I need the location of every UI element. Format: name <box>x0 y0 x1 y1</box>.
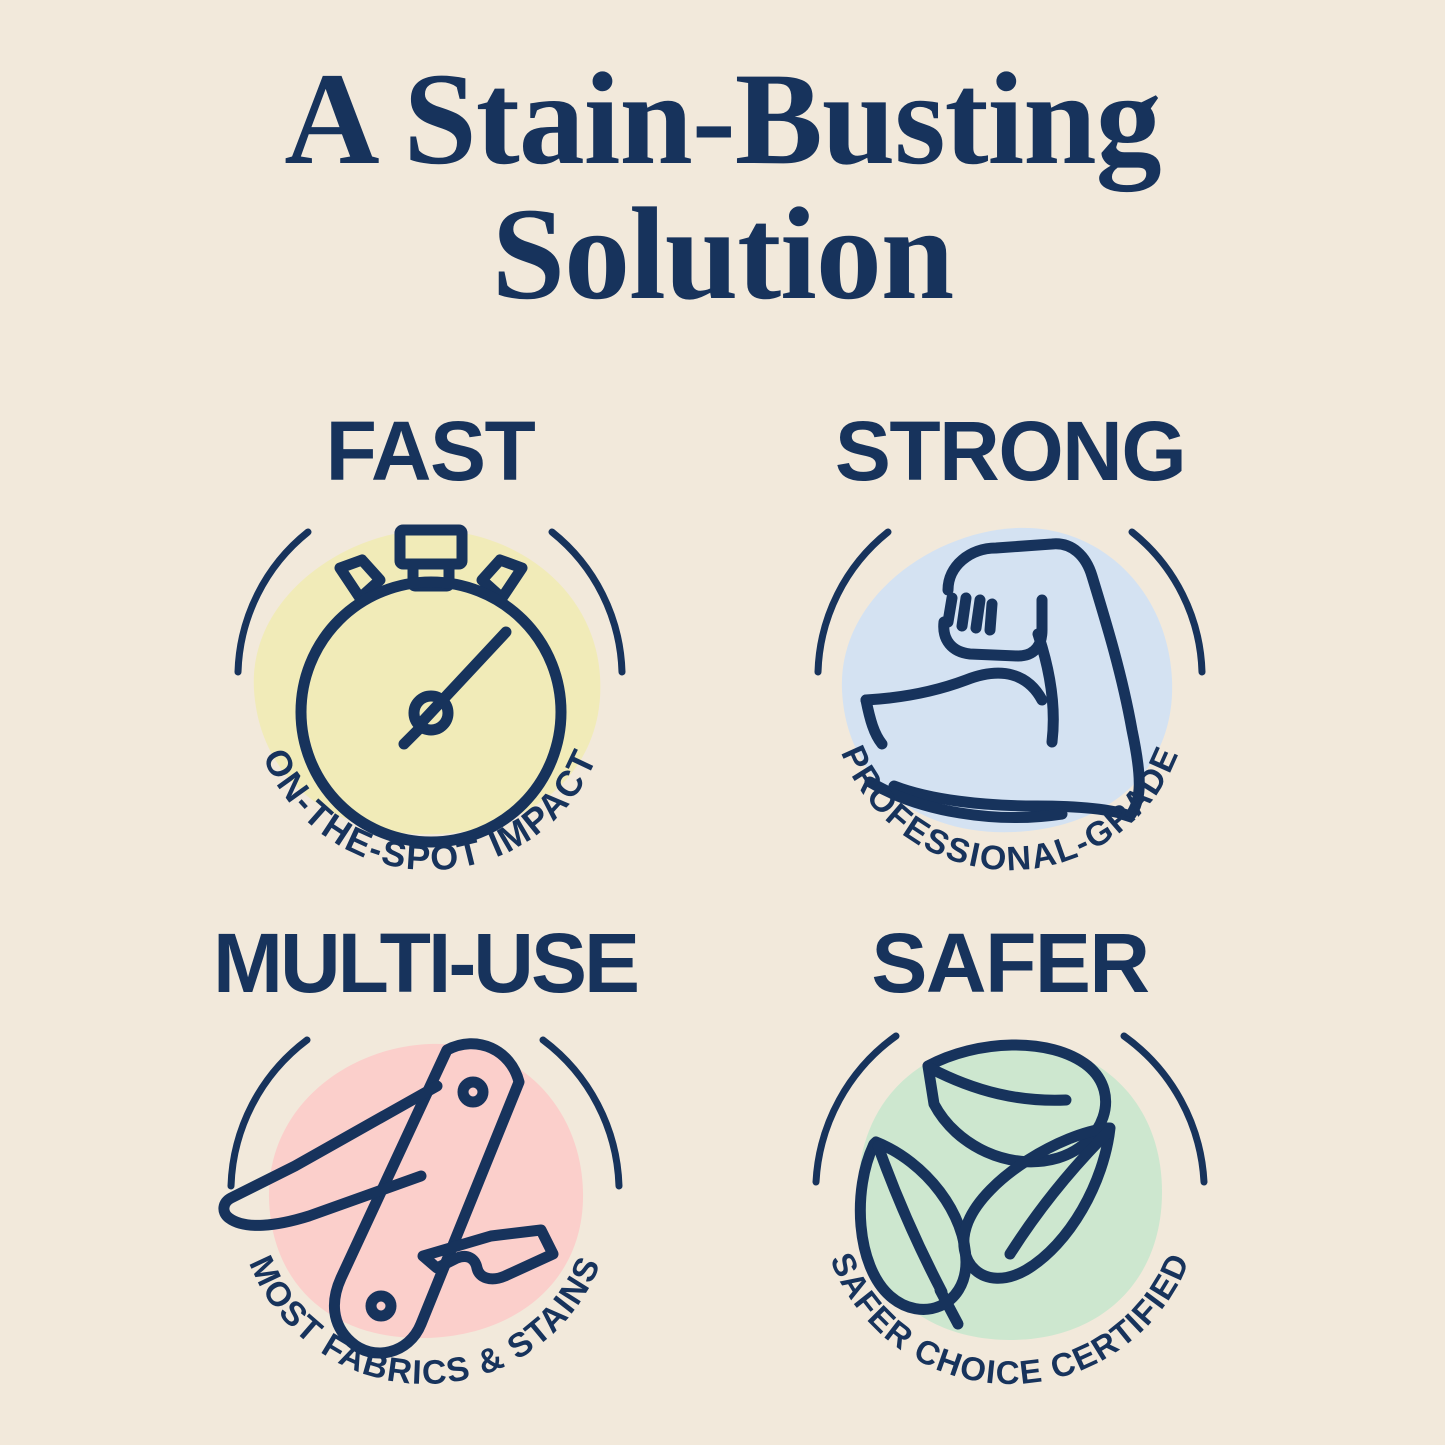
page-title-line-2: Solution <box>0 187 1445 322</box>
badge-safer: SAFER <box>770 920 1250 1400</box>
badge-multi-use-title: MULTI-USE <box>185 920 665 1006</box>
promo-graphic: A Stain-Busting Solution FAST <box>0 0 1445 1445</box>
blob-green <box>858 1042 1162 1340</box>
badge-strong: STRONG <box>770 408 1250 888</box>
page-title: A Stain-Busting Solution <box>0 52 1445 321</box>
badge-multi-use: MULTI-USE <box>185 920 665 1400</box>
badge-fast-art: ON-THE-SPOT IMPACT <box>190 494 670 888</box>
badge-multi-use-art: MOST FABRICS & STAINS <box>185 1006 665 1400</box>
badge-fast: FAST <box>190 408 670 888</box>
badge-fast-title: FAST <box>190 408 670 494</box>
badge-strong-art: PROFESSIONAL-GRADE <box>770 494 1250 888</box>
badge-safer-art: SAFER CHOICE CERTIFIED <box>770 1006 1250 1400</box>
badge-safer-title: SAFER <box>770 920 1250 1006</box>
badge-strong-title: STRONG <box>770 408 1250 494</box>
page-title-line-1: A Stain-Busting <box>0 52 1445 187</box>
